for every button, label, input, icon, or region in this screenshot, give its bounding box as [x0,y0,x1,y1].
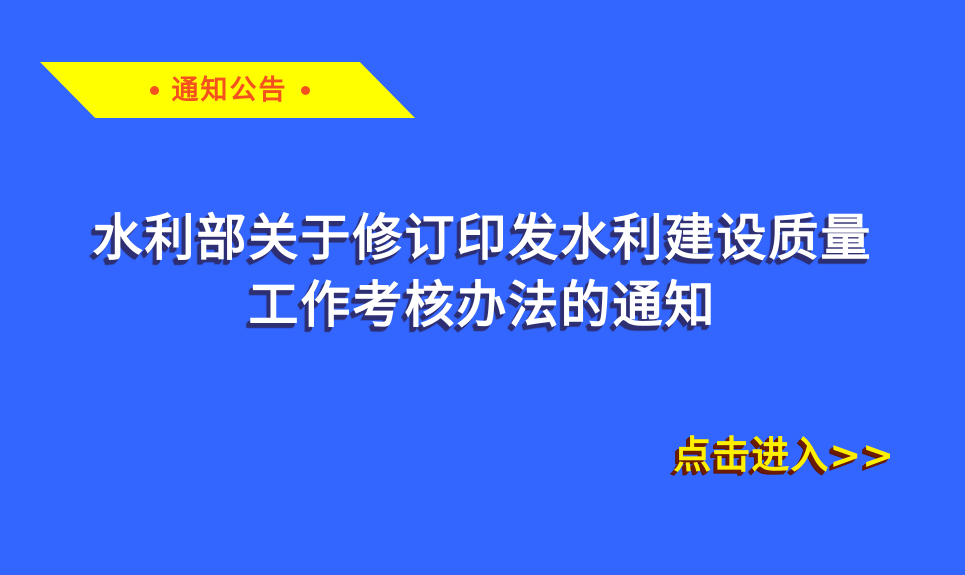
notice-ribbon-content: 通知公告 [150,77,310,104]
page-title-line-1: 水利部关于修订印发水利建设质量 [0,205,965,272]
notice-banner-stage: 通知公告 水利部关于修订印发水利建设质量 工作考核办法的通知 点击进入>> [0,0,965,575]
bullet-dot-right-icon [301,86,310,95]
page-title: 水利部关于修订印发水利建设质量 工作考核办法的通知 [0,205,965,339]
page-title-line-2: 工作考核办法的通知 [0,272,965,339]
notice-ribbon-label: 通知公告 [172,77,288,104]
bullet-dot-left-icon [150,86,159,95]
notice-ribbon: 通知公告 [40,62,415,118]
enter-link[interactable]: 点击进入>> [673,436,895,474]
